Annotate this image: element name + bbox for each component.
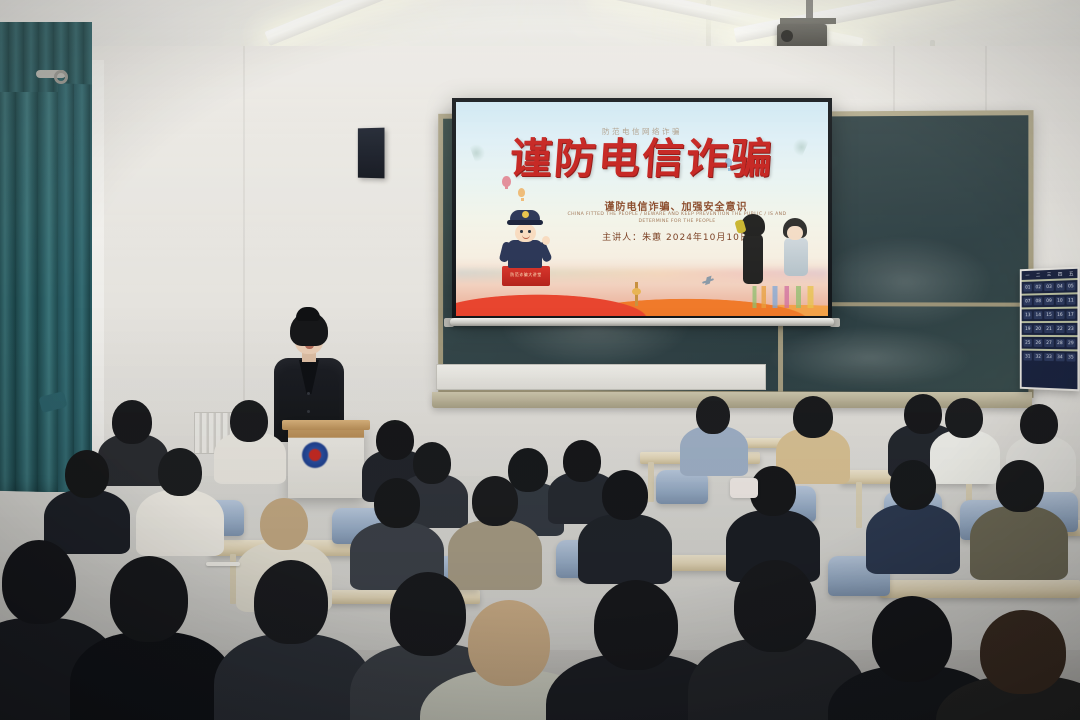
calendar-cell: 15 xyxy=(1045,311,1054,319)
calendar-cell: 10 xyxy=(1055,297,1064,305)
calendar-row: 07 08 09 10 11 xyxy=(1022,294,1078,307)
student-head xyxy=(696,396,730,434)
calendar-cell: 26 xyxy=(1034,339,1043,347)
student-head xyxy=(872,596,952,682)
curtain-ring xyxy=(54,70,68,84)
student-torso xyxy=(866,504,960,574)
projection-screen: 防范电信网络诈骗 谨防电信诈骗 谨防电信诈骗、加强安全意识 CHINA FITT… xyxy=(452,98,832,320)
cartoon-police-officer: 防范诈骗大讲堂 xyxy=(498,208,552,286)
slide-tower-icon xyxy=(635,282,638,306)
student xyxy=(718,560,830,720)
cartoon-podium-label: 防范诈骗大讲堂 xyxy=(502,272,550,278)
student-head xyxy=(472,476,518,526)
calendar-cell: 03 xyxy=(1045,283,1054,291)
calendar-row: 13 14 15 16 17 xyxy=(1022,309,1078,322)
calendar-weekday: 三 xyxy=(1044,272,1054,278)
lectern-top xyxy=(282,420,370,430)
calendar-cell: 02 xyxy=(1034,283,1043,291)
calendar-cell: 14 xyxy=(1034,311,1043,319)
calendar-cell: 20 xyxy=(1034,325,1043,333)
calendar-cell: 28 xyxy=(1055,339,1064,347)
calendar-row: 19 20 21 22 23 xyxy=(1022,323,1078,335)
student-head xyxy=(734,560,816,652)
calendar-cell: 16 xyxy=(1055,311,1064,319)
classroom-scene: 防范电信网络诈骗 谨防电信诈骗 谨防电信诈骗、加强安全意识 CHINA FITT… xyxy=(0,0,1080,720)
student xyxy=(576,580,692,720)
calendar-cell: 32 xyxy=(1034,353,1043,361)
pen-on-desk xyxy=(206,562,240,566)
student-hair-brown xyxy=(980,610,1066,694)
calendar-cell: 08 xyxy=(1034,297,1043,305)
window-curtain xyxy=(0,22,92,492)
calendar-weekday: 二 xyxy=(1033,272,1043,278)
chalkboard-ledge xyxy=(436,364,766,390)
calendar-cell: 17 xyxy=(1066,311,1075,319)
victim-face xyxy=(787,226,803,240)
chalk-smudge xyxy=(819,237,991,328)
police-hand-pointing xyxy=(542,236,550,245)
student xyxy=(690,396,736,468)
calendar-cell: 22 xyxy=(1055,325,1064,333)
presenter-button xyxy=(307,392,310,395)
calendar-cell: 21 xyxy=(1045,325,1054,333)
calendar-cell: 01 xyxy=(1024,284,1033,292)
victim-body xyxy=(784,238,808,276)
calendar-cell: 23 xyxy=(1066,325,1075,333)
student-torso xyxy=(70,632,234,720)
student-torso xyxy=(214,634,372,720)
calendar-cell: 07 xyxy=(1024,297,1033,305)
calendar-row: 25 26 27 28 29 xyxy=(1022,337,1078,350)
cartoon-victim xyxy=(778,218,814,282)
calendar-row: 31 32 33 34 35 xyxy=(1022,351,1078,364)
presenter-button xyxy=(307,410,310,413)
cartoon-scammer xyxy=(738,214,770,286)
student-head xyxy=(158,448,202,496)
wall-speaker xyxy=(358,128,385,179)
student-head xyxy=(2,540,76,624)
cartoon-podium: 防范诈骗大讲堂 xyxy=(502,266,550,286)
scammer-body xyxy=(743,234,763,284)
decorative-balloon xyxy=(518,188,525,197)
calendar-cell: 29 xyxy=(1066,339,1075,347)
student xyxy=(880,460,946,556)
student-head xyxy=(996,460,1044,512)
projection-screen-surface: 防范电信网络诈骗 谨防电信诈骗 谨防电信诈骗、加强安全意识 CHINA FITT… xyxy=(456,102,828,316)
presenter-hair-bun xyxy=(296,307,320,321)
student-head xyxy=(230,400,268,442)
calendar-cell: 31 xyxy=(1024,353,1033,361)
student xyxy=(364,478,430,574)
student-head xyxy=(890,460,936,510)
student xyxy=(222,400,274,476)
calendar-cell: 04 xyxy=(1055,282,1064,290)
slide-cityscape-graphic xyxy=(748,286,824,308)
student xyxy=(96,556,200,720)
lectern-emblem xyxy=(302,442,328,468)
student-head xyxy=(793,396,833,438)
calendar-cell: 11 xyxy=(1066,296,1075,304)
calendar-weekday: 一 xyxy=(1023,273,1033,279)
calendar-cell: 27 xyxy=(1045,339,1054,347)
screen-roll-bar[interactable] xyxy=(450,318,834,326)
calendar-cell: 05 xyxy=(1066,282,1075,290)
police-cap-badge xyxy=(522,211,529,218)
student xyxy=(148,448,210,542)
student xyxy=(56,450,116,542)
student xyxy=(984,460,1054,560)
police-smile xyxy=(522,235,530,239)
police-face xyxy=(515,224,536,242)
student-head xyxy=(602,470,648,520)
calendar-weekday: 五 xyxy=(1066,271,1076,277)
student-head xyxy=(1020,404,1058,444)
calendar-cell: 09 xyxy=(1045,297,1054,305)
student-torso xyxy=(970,506,1068,580)
student xyxy=(960,610,1080,720)
student xyxy=(240,560,340,720)
student-head xyxy=(374,478,420,528)
student xyxy=(592,470,658,566)
wall-seam xyxy=(243,46,245,406)
student-head xyxy=(904,394,942,434)
calendar-cell: 34 xyxy=(1055,353,1064,361)
student-hair-light xyxy=(260,498,308,550)
calendar-cell: 19 xyxy=(1024,325,1033,333)
student-head xyxy=(112,400,152,444)
student-head xyxy=(65,450,109,498)
curtain-panel-secondary xyxy=(58,83,92,492)
student xyxy=(462,476,528,572)
student-head xyxy=(945,398,983,438)
calendar-cell: 13 xyxy=(1024,311,1033,319)
slide-subtitle: 谨防电信诈骗、加强安全意识 xyxy=(552,198,800,213)
slide-title: 谨防电信诈骗 xyxy=(456,138,828,180)
wall-calendar-poster: 一 二 三 四 五 01 02 03 04 05 07 08 09 10 11 … xyxy=(1020,267,1080,392)
calendar-cell: 35 xyxy=(1066,353,1075,361)
student-torso xyxy=(136,490,224,556)
curtain-valance xyxy=(0,22,92,92)
calendar-cell: 25 xyxy=(1024,339,1033,347)
police-cap-brim xyxy=(507,220,543,225)
desk-leg xyxy=(856,482,862,528)
student-head xyxy=(254,560,328,644)
police-eye xyxy=(520,230,523,233)
student-hair-light xyxy=(468,600,550,686)
calendar-cell: 33 xyxy=(1045,353,1054,361)
calendar-weekday: 四 xyxy=(1055,271,1065,277)
student-head xyxy=(594,580,678,670)
chalk-smudge xyxy=(769,327,971,388)
student-torso xyxy=(578,514,672,584)
student xyxy=(786,396,838,474)
student-head xyxy=(110,556,188,642)
bag-on-desk xyxy=(730,478,758,498)
police-eye xyxy=(528,230,531,233)
